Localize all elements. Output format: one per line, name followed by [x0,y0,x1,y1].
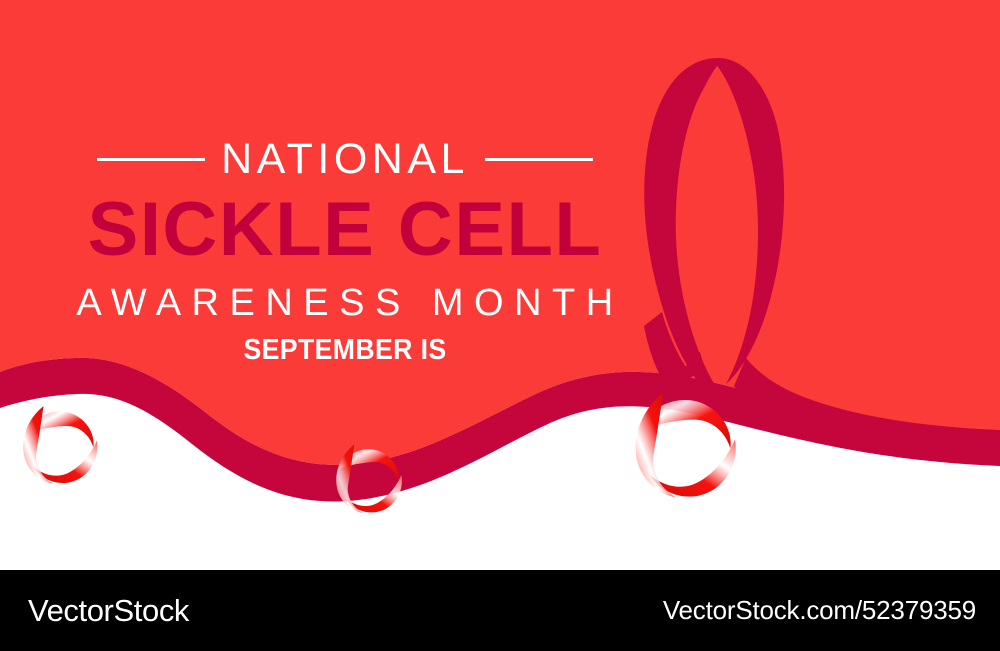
sickle-cell-left [23,406,97,483]
footer-bar: VectorStock VectorStock.com/52379359 [0,570,1000,651]
poster-artwork [0,0,1000,570]
credit-url: VectorStock.com/52379359 [663,595,976,626]
artwork-area: NATIONAL SICKLE CELL AWARENESS MONTH SEP… [0,0,1000,570]
poster-canvas: NATIONAL SICKLE CELL AWARENESS MONTH SEP… [0,0,1000,651]
brand-wordmark: VectorStock [28,593,189,629]
